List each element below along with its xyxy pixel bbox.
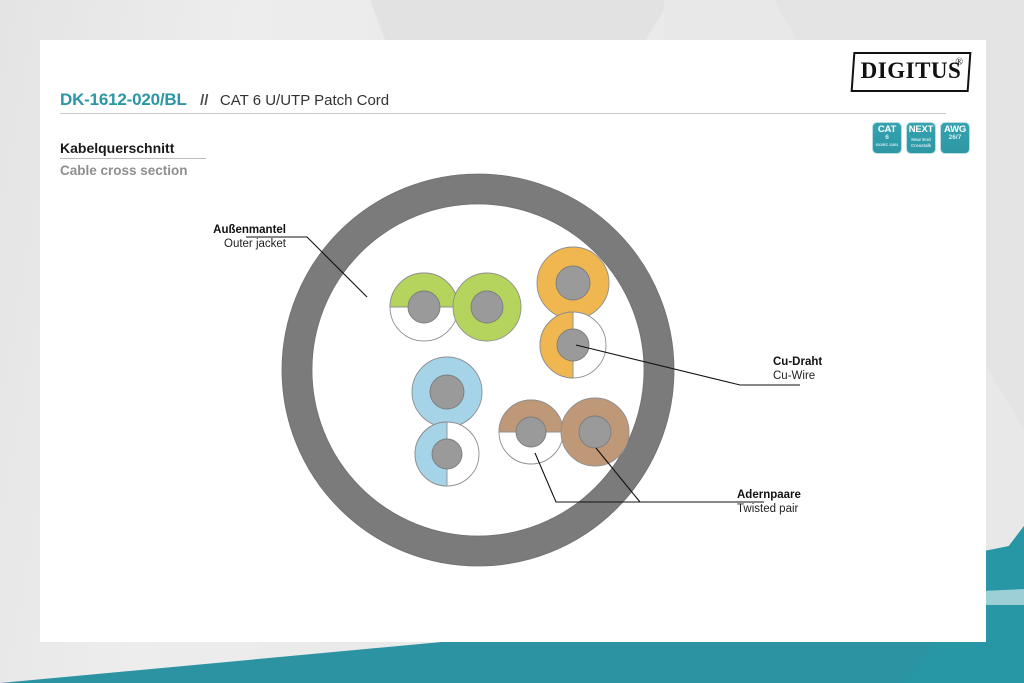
green-pair-wire-2 — [453, 273, 521, 341]
twisted-pair-label-en: Twisted pair — [737, 502, 801, 516]
orange-pair-wire-1 — [537, 247, 609, 319]
blue-pair-copper-core — [430, 375, 464, 409]
blue-pair-wire-1 — [412, 357, 482, 427]
cu-wire-label-de: Cu-Draht — [773, 355, 822, 369]
cable-cross-section-diagram: Außenmantel Outer jacket Cu-Draht Cu-Wir… — [40, 40, 986, 642]
orange-pair-wire-2 — [540, 312, 606, 378]
outer-jacket-label: Außenmantel Outer jacket — [206, 223, 286, 251]
cu-wire-label: Cu-Draht Cu-Wire — [773, 355, 822, 383]
outer-jacket-label-en: Outer jacket — [206, 237, 286, 251]
orange-pair-copper-core — [556, 266, 590, 300]
orange-pair-copper-core — [557, 329, 589, 361]
brown-pair-copper-core — [579, 416, 611, 448]
twisted-pair-label-de: Adernpaare — [737, 488, 801, 502]
blue-pair-copper-core — [432, 439, 462, 469]
cable-diagram-svg — [40, 40, 986, 642]
brown-pair-wire-1 — [499, 400, 563, 464]
brown-pair-wire-2 — [561, 398, 629, 466]
green-pair-wire-1 — [390, 273, 458, 341]
outer-jacket-label-de: Außenmantel — [206, 223, 286, 237]
green-pair-copper-core — [471, 291, 503, 323]
cu-wire-label-en: Cu-Wire — [773, 369, 822, 383]
twisted-pair-label: Adernpaare Twisted pair — [737, 488, 801, 516]
green-pair-copper-core — [408, 291, 440, 323]
content-card: DIGITUS ® CAT 6 ISO/IEC 11801 NEXT Near … — [40, 40, 986, 642]
blue-pair-wire-2 — [415, 422, 479, 486]
brown-pair-copper-core — [516, 417, 546, 447]
